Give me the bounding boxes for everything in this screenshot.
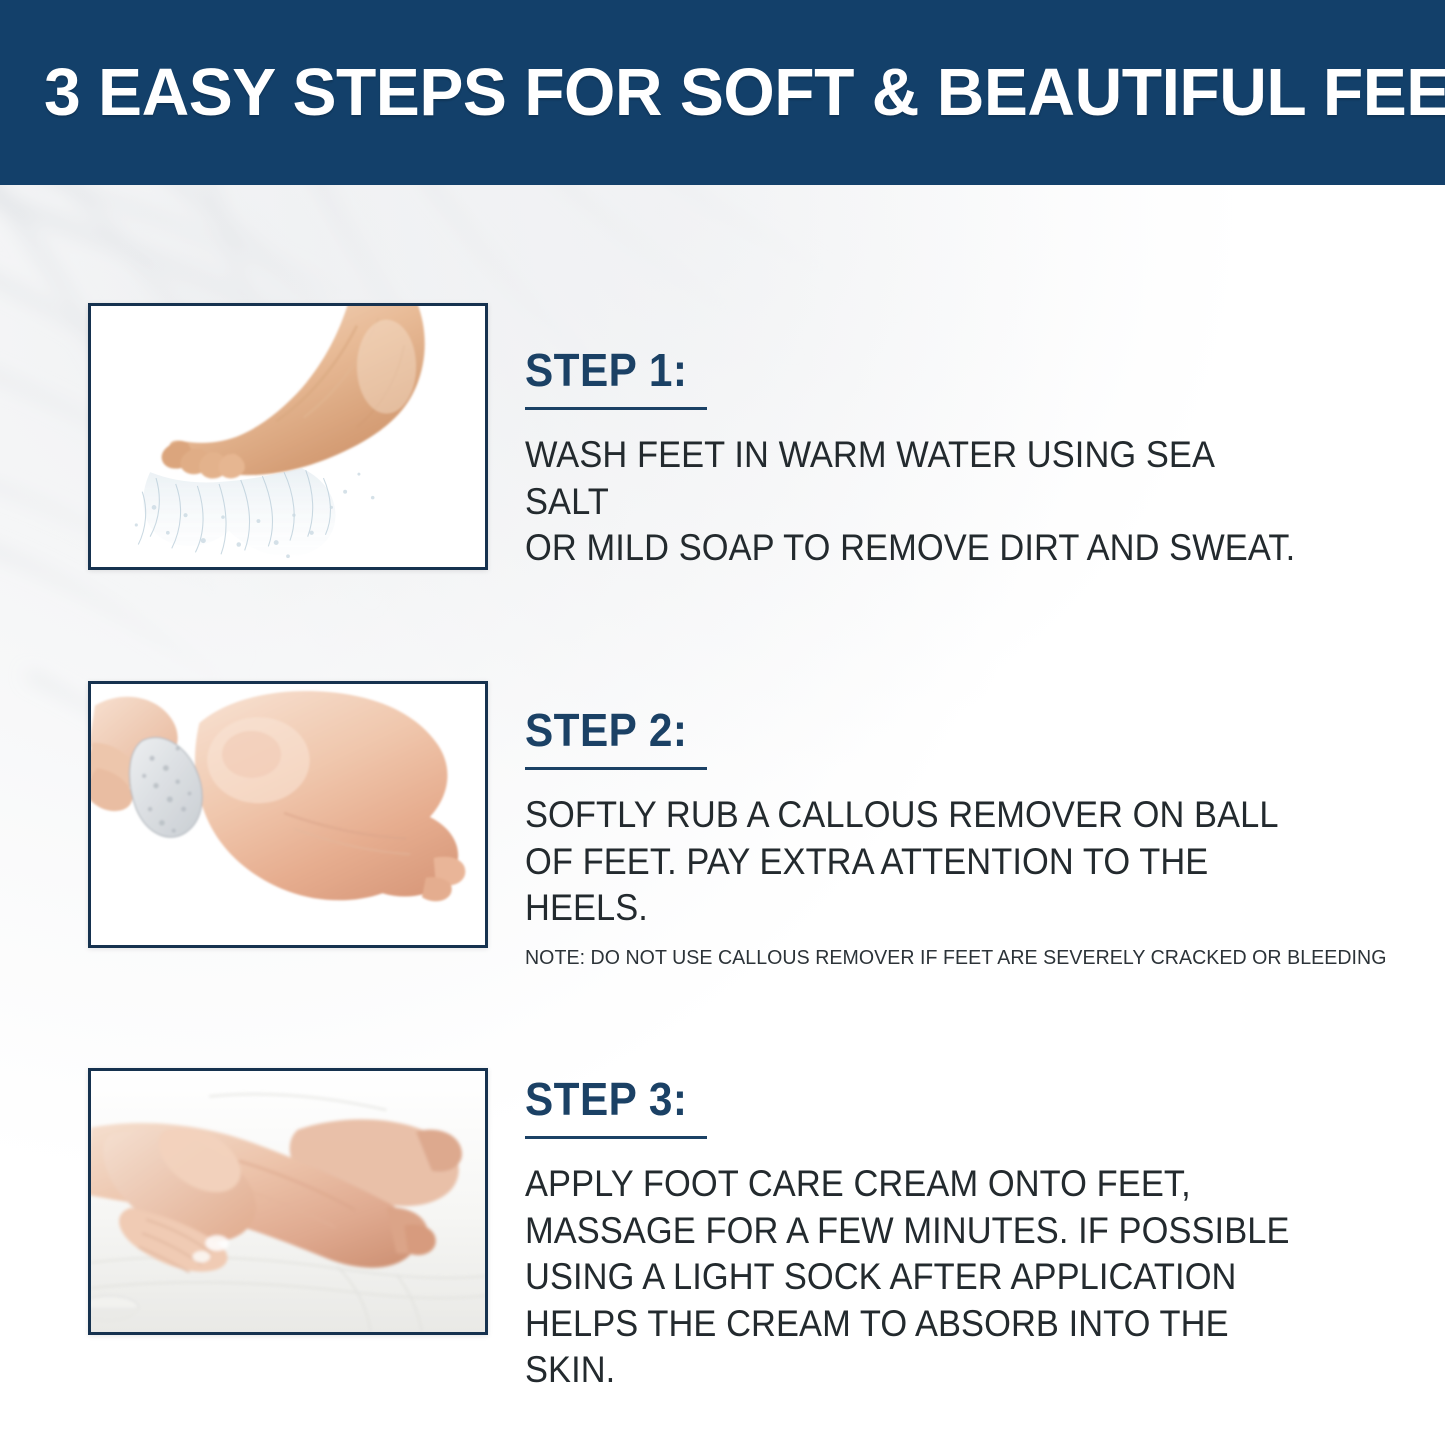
page-title: 3 EASY STEPS FOR SOFT & BEAUTIFUL FEET xyxy=(44,59,1445,126)
step-3-text-block: STEP 3: APPLY FOOT CARE CREAM ONTO FEET,… xyxy=(525,1076,1355,1394)
step-1-underline xyxy=(525,407,707,410)
header-banner: 3 EASY STEPS FOR SOFT & BEAUTIFUL FEET xyxy=(0,0,1445,185)
step-3-photo xyxy=(91,1071,485,1332)
step-3-photo-frame xyxy=(88,1068,488,1335)
step-2-photo-frame xyxy=(88,681,488,948)
step-1-photo xyxy=(91,306,485,567)
step-3-body: APPLY FOOT CARE CREAM ONTO FEET, MASSAGE… xyxy=(525,1161,1297,1394)
step-2-photo xyxy=(91,684,485,945)
step-3-underline xyxy=(525,1136,707,1139)
step-2-body: SOFTLY RUB A CALLOUS REMOVER ON BALL OF … xyxy=(525,792,1297,932)
step-1-body: WASH FEET IN WARM WATER USING SEA SALT O… xyxy=(525,432,1297,572)
step-2-note: NOTE: DO NOT USE CALLOUS REMOVER IF FEET… xyxy=(525,945,1318,971)
step-1-photo-frame xyxy=(88,303,488,570)
step-2-underline xyxy=(525,767,707,770)
step-1-text-block: STEP 1: WASH FEET IN WARM WATER USING SE… xyxy=(525,347,1355,572)
step-2-text-block: STEP 2: SOFTLY RUB A CALLOUS REMOVER ON … xyxy=(525,707,1355,970)
infographic-page: 3 EASY STEPS FOR SOFT & BEAUTIFUL FEET xyxy=(0,0,1445,1445)
step-2-label: STEP 2: xyxy=(525,707,687,753)
step-3-label: STEP 3: xyxy=(525,1076,687,1122)
step-1-label: STEP 1: xyxy=(525,347,687,393)
